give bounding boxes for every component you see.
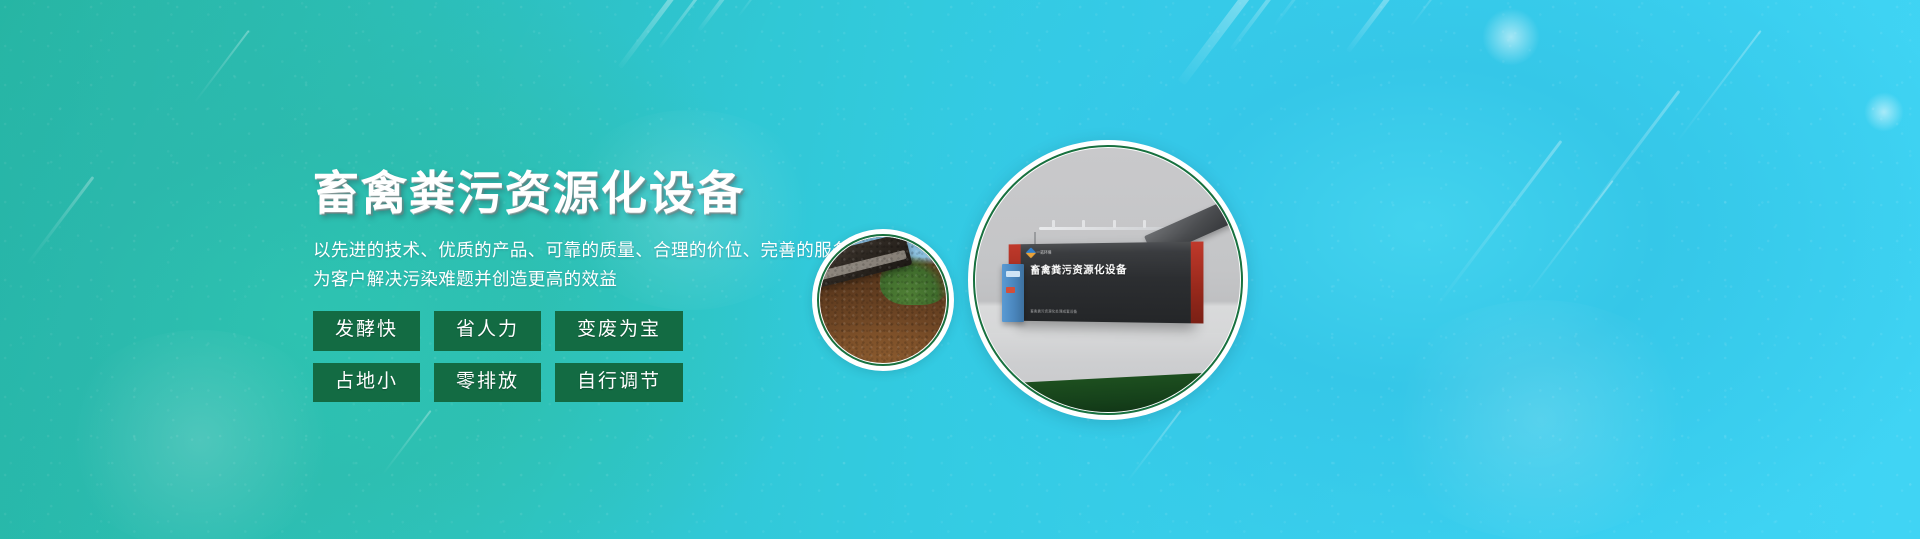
machine-photo-circle[interactable]: 一诺环境 畜禽粪污资源化设备 畜禽粪污资源化处理成套设备 bbox=[968, 140, 1248, 420]
feature-tag-fast-fermentation[interactable]: 发酵快 bbox=[313, 311, 420, 351]
overhead-pipe bbox=[1039, 227, 1166, 230]
feature-tag-waste-to-treasure[interactable]: 变废为宝 bbox=[555, 311, 683, 351]
machine-sublabel: 畜禽粪污资源化处理成套设备 bbox=[1030, 309, 1077, 314]
container-end-cap-right bbox=[1191, 242, 1204, 324]
machine-render-scene: 一诺环境 畜禽粪污资源化设备 畜禽粪污资源化处理成套设备 bbox=[976, 148, 1240, 412]
brand-logo: 一诺环境 bbox=[1027, 248, 1051, 256]
feature-tag-zero-emission[interactable]: 零排放 bbox=[434, 363, 541, 403]
feature-tag-small-footprint[interactable]: 占地小 bbox=[313, 363, 420, 403]
banner-title: 畜禽粪污资源化设备 bbox=[313, 166, 1013, 220]
control-cabinet bbox=[1002, 264, 1023, 322]
feature-tag-labor-saving[interactable]: 省人力 bbox=[434, 311, 541, 351]
conveyor-belt bbox=[820, 237, 913, 290]
compost-photo-circle[interactable] bbox=[812, 229, 954, 371]
machine-photo: 一诺环境 畜禽粪污资源化设备 畜禽粪污资源化处理成套设备 bbox=[976, 148, 1240, 412]
left-edge-fade bbox=[0, 0, 120, 539]
compost-pile-image bbox=[820, 237, 946, 363]
brand-name: 一诺环境 bbox=[1036, 249, 1051, 255]
compost-photo bbox=[820, 237, 946, 363]
machine-label: 畜禽粪污资源化设备 bbox=[1030, 261, 1183, 277]
background-trees bbox=[880, 255, 946, 305]
promo-banner: 畜禽粪污资源化设备 以先进的技术、优质的产品、可靠的质量、合理的价位、完善的服务… bbox=[0, 0, 1920, 539]
feature-tag-self-adjusting[interactable]: 自行调节 bbox=[555, 363, 683, 403]
brand-diamond-icon bbox=[1025, 247, 1036, 258]
feature-tag-row-2: 占地小 零排放 自行调节 bbox=[313, 363, 1013, 403]
fermentation-container: 一诺环境 畜禽粪污资源化设备 畜禽粪污资源化处理成套设备 bbox=[1017, 242, 1195, 324]
